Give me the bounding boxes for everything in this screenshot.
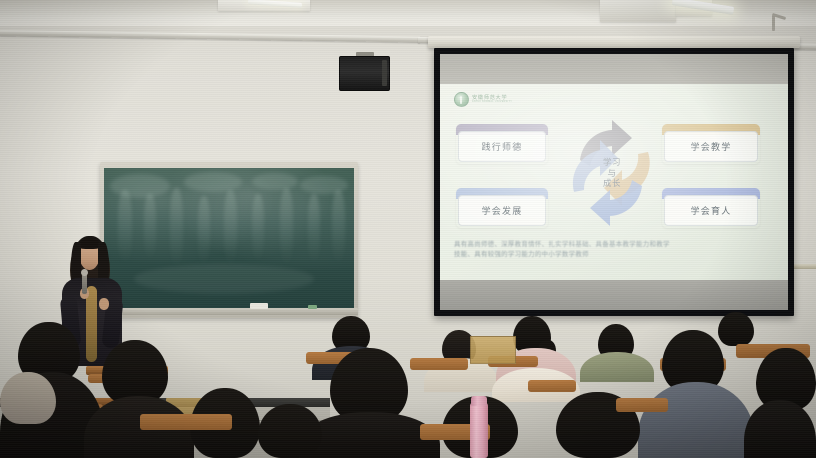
hair — [102, 340, 168, 404]
box-label: 践行师德 — [482, 140, 523, 153]
microphone-head — [81, 269, 88, 276]
chalk-smear — [224, 190, 237, 266]
cycle-center-text: 学习 与 成长 — [558, 116, 666, 232]
hair — [330, 348, 408, 422]
slide-box-bottom-right[interactable]: 学会育人 — [662, 188, 760, 228]
wall-hook — [772, 15, 775, 31]
audience-head-foreground — [0, 372, 56, 424]
box-label: 学会教学 — [691, 140, 732, 153]
chalk-stick — [308, 305, 317, 309]
cycle-diagram: 学习 与 成长 — [558, 116, 666, 232]
slide-box-top-left[interactable]: 践行师德 — [456, 124, 548, 164]
audience-head-foreground — [330, 348, 408, 422]
chalk-smear — [170, 188, 183, 268]
slide-footer-line-1: 具有高尚师德、深厚教育情怀、扎实学科基础、具备基本教学能力和教学 — [454, 240, 776, 250]
slide-box-bottom-left[interactable]: 学会发展 — [456, 188, 548, 228]
box-label: 学会发展 — [482, 204, 523, 217]
chalk-smear — [332, 190, 345, 264]
chalk-smear — [252, 194, 264, 262]
hair — [258, 404, 322, 458]
slide-footer-line-2: 技能、具有较强的学习能力的中小学数学教师 — [454, 250, 776, 260]
chalk-smear — [110, 174, 170, 198]
cycle-line-3: 成长 — [603, 179, 621, 190]
university-name-en: ANHUI NORMAL UNIVERSITY — [472, 101, 512, 103]
classroom-photo: 安徽师范大学 ANHUI NORMAL UNIVERSITY 践行师德 学会教学 — [0, 0, 816, 458]
box-body: 践行师德 — [458, 131, 546, 162]
screen-housing — [428, 36, 800, 48]
chalk-tray — [100, 308, 358, 315]
chalk-smear — [252, 173, 298, 190]
chair-back-foreground — [616, 398, 668, 412]
slide-footer: 具有高尚师德、深厚教育情怀、扎实学科基础、具备基本教学能力和教学 技能、具有较强… — [454, 240, 776, 259]
audience-head-foreground — [258, 404, 322, 458]
chalkboard — [104, 168, 354, 308]
chair-back — [410, 358, 468, 370]
chalk-smear — [198, 196, 210, 266]
chalk-smear — [280, 188, 293, 266]
cycle-line-2: 与 — [607, 169, 616, 180]
slide-canvas: 安徽师范大学 ANHUI NORMAL UNIVERSITY 践行师德 学会教学 — [440, 84, 788, 280]
wall-poster — [470, 336, 516, 364]
screen-blank-band-bottom — [440, 280, 788, 310]
chair-back-foreground — [528, 380, 576, 392]
chair-back-foreground — [140, 414, 232, 430]
box-body: 学会育人 — [664, 195, 758, 226]
hair — [0, 372, 56, 424]
slide-box-top-right[interactable]: 学会教学 — [662, 124, 760, 164]
pink-thermos-cap — [471, 396, 487, 406]
chalk-smear — [308, 194, 320, 264]
cycle-line-1: 学习 — [603, 158, 621, 169]
chalk-smear — [184, 172, 242, 192]
box-label: 学会育人 — [691, 204, 732, 217]
box-body: 学会教学 — [664, 131, 758, 162]
university-emblem-icon — [454, 92, 469, 107]
pink-thermos[interactable] — [470, 402, 488, 458]
ceiling-panel-left — [600, 0, 676, 22]
blackboard-eraser — [250, 303, 268, 309]
chalk-smear — [144, 194, 156, 260]
audience-head-foreground — [102, 340, 168, 404]
screen-blank-band-top — [440, 54, 788, 84]
speaker-mount-arm — [382, 60, 387, 86]
projection-screen-surface: 安徽师范大学 ANHUI NORMAL UNIVERSITY 践行师德 学会教学 — [440, 54, 788, 310]
chalk-smear — [134, 264, 314, 294]
box-body: 学会发展 — [458, 195, 546, 226]
presenter-hand-gesture — [99, 298, 109, 310]
slide-logo: 安徽师范大学 ANHUI NORMAL UNIVERSITY — [454, 92, 512, 107]
